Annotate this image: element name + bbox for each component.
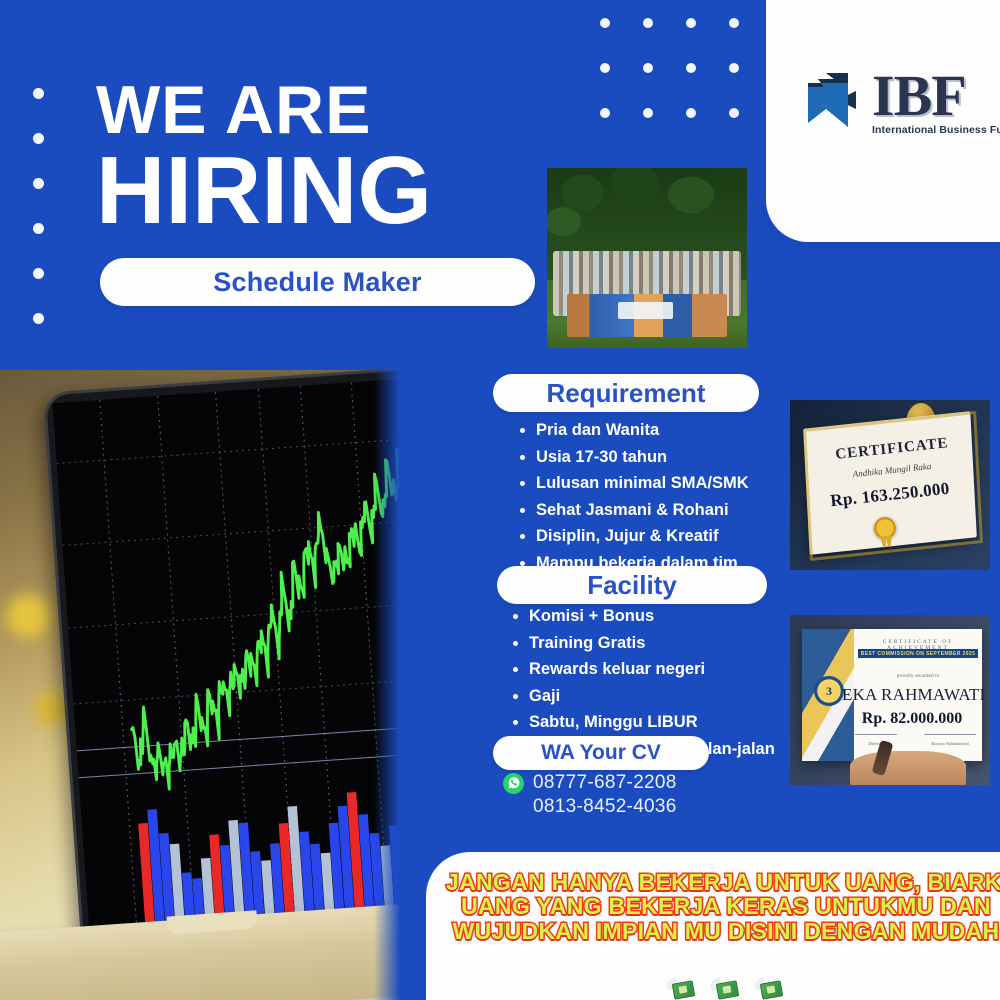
decor-dot — [686, 108, 696, 118]
logo-text-block: IBF International Business Futur — [872, 69, 1000, 135]
list-item: Lulusan minimal SMA/SMK — [520, 475, 749, 492]
list-item: Usia 17-30 tahun — [520, 449, 749, 466]
decor-dot — [33, 178, 44, 189]
decor-dot — [33, 88, 44, 99]
certificate-photo-2: CERTIFICATE OF ACHIEVEMENT BEST COMMISSI… — [790, 615, 990, 785]
role-pill: Schedule Maker — [100, 258, 535, 306]
money-emoji-row — [446, 974, 1000, 1000]
headline-line-1: WE ARE — [96, 78, 566, 143]
banner-line-2: UANG YANG BEKERJA KERAS UNTUKMU DAN — [446, 894, 1000, 918]
volume-bar-series — [52, 376, 400, 950]
banner-line-1: JANGAN HANYA BEKERJA UNTUK UANG, BIARKAN — [446, 870, 1000, 894]
ibf-arrow-icon — [796, 65, 870, 141]
facility-title-pill: Facility — [497, 566, 767, 604]
logo-tagline: International Business Futur — [872, 124, 1000, 136]
contact-row-primary[interactable]: 08777-687-2208 — [503, 772, 677, 794]
list-item: Disiplin, Jujur & Kreatif — [520, 528, 749, 545]
decor-dot — [729, 108, 739, 118]
role-label: Schedule Maker — [213, 267, 421, 298]
requirement-title-pill: Requirement — [493, 374, 759, 412]
team-photo — [547, 168, 747, 348]
decor-dot — [729, 63, 739, 73]
logo-wordmark: IBF — [872, 69, 1000, 122]
cert2-recipient: EKA RAHMAWATI — [842, 685, 990, 705]
list-item: Pria dan Wanita — [520, 422, 749, 439]
money-with-wings-icon — [713, 979, 739, 999]
whatsapp-icon[interactable] — [503, 773, 524, 794]
certificate-photo-1: CERTIFICATE Andhika Mungil Raka Rp. 163.… — [790, 400, 990, 570]
list-item: Sabtu, Minggu LIBUR — [513, 714, 775, 731]
cert2-signature-left: Director — [850, 741, 902, 746]
decor-dot — [643, 63, 653, 73]
list-item: Training Gratis — [513, 635, 775, 652]
tablet-device — [43, 370, 400, 959]
contact-block: 08777-687-2208 0813-8452-4036 — [503, 772, 677, 820]
decor-dot — [33, 313, 44, 324]
cert2-presented: proudly awarded to — [858, 673, 978, 679]
wa-title: WA Your CV — [541, 741, 661, 765]
logo-panel: IBF International Business Futur — [766, 0, 1000, 242]
contact-row-secondary[interactable]: 0813-8452-4036 — [503, 796, 677, 818]
list-item: Komisi + Bonus — [513, 608, 775, 625]
hiring-poster: IBF International Business Futur WE ARE … — [0, 0, 1000, 1000]
photo-edge-fade — [374, 370, 400, 1000]
list-item: Sehat Jasmani & Rohani — [520, 502, 749, 519]
list-item: Gaji — [513, 688, 775, 705]
decor-dot — [33, 223, 44, 234]
tablet-screen — [52, 376, 400, 950]
decor-dot — [686, 18, 696, 28]
phone-number-1[interactable]: 08777-687-2208 — [533, 772, 677, 794]
decor-dot — [600, 63, 610, 73]
facility-title: Facility — [587, 570, 677, 601]
decor-dot — [33, 133, 44, 144]
decor-dot — [729, 18, 739, 28]
money-with-wings-icon — [757, 979, 783, 999]
wa-title-pill: WA Your CV — [493, 736, 709, 770]
decor-dot — [686, 63, 696, 73]
trading-chart-photo — [0, 370, 400, 1000]
motivational-banner: JANGAN HANYA BEKERJA UNTUK UANG, BIARKAN… — [446, 870, 1000, 943]
cert2-hand — [850, 751, 966, 785]
decor-dot — [600, 108, 610, 118]
cert2-band: BEST COMMISSION ON SEPTEMBER 2025 — [858, 649, 978, 658]
company-logo: IBF International Business Futur — [796, 55, 1000, 150]
requirement-list: Pria dan Wanita Usia 17-30 tahun Lulusan… — [520, 422, 749, 581]
money-with-wings-icon — [669, 979, 695, 999]
cert2-rank-medal: 3 — [814, 676, 844, 706]
list-item: Rewards keluar negeri — [513, 661, 775, 678]
headline-line-2: HIRING — [96, 145, 566, 236]
requirement-title: Requirement — [547, 378, 706, 409]
bottom-banner-panel: JANGAN HANYA BEKERJA UNTUK UANG, BIARKAN… — [426, 852, 1000, 1000]
decor-dot — [33, 268, 44, 279]
decor-dot — [600, 18, 610, 28]
decor-dot — [643, 108, 653, 118]
photo-event-banner — [567, 294, 727, 337]
headline-block: WE ARE HIRING — [96, 78, 566, 236]
cert2-signature-right: Koorya Nukantoriod — [918, 741, 982, 746]
banner-line-3: WUJUDKAN IMPIAN MU DISINI DENGAN MUDAH — [446, 919, 1000, 943]
decor-dot — [643, 18, 653, 28]
cert2-band-label: BEST COMMISSION ON SEPTEMBER 2025 — [861, 651, 976, 657]
cert2-amount: Rp. 82.000.000 — [850, 710, 974, 728]
phone-number-2[interactable]: 0813-8452-4036 — [533, 796, 677, 818]
